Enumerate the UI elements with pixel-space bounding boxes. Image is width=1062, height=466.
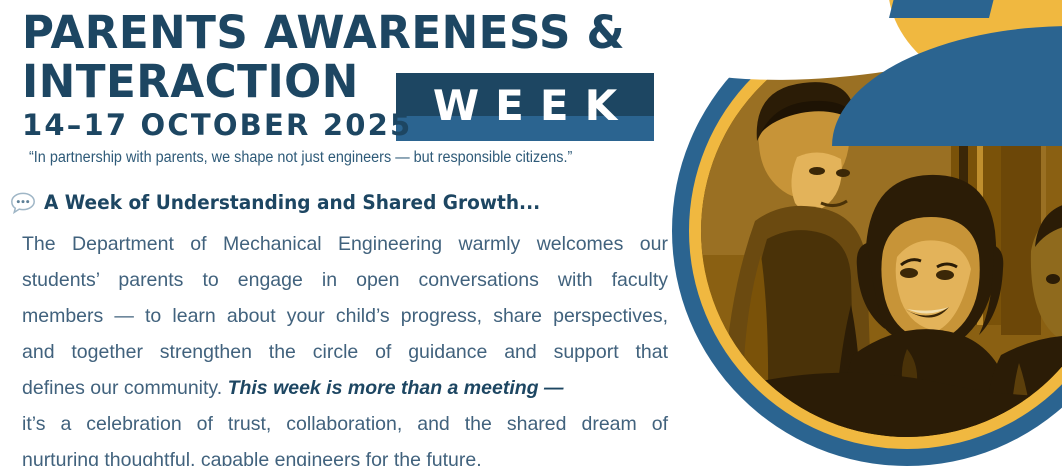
body-line-7: nurturing thoughtful, capable engineers … — [22, 442, 668, 466]
week-badge: WEEK — [396, 73, 654, 141]
poster-body-copy: The Department of Mechanical Engineering… — [22, 226, 668, 466]
parents-awareness-week-poster: PARENTS AWARENESS & INTERACTION WEEK 14–… — [0, 0, 1062, 466]
section-heading-row: A Week of Understanding and Shared Growt… — [10, 192, 566, 214]
body-line-5: defines our community. This week is more… — [22, 370, 668, 406]
speech-bubble-icon — [10, 192, 36, 214]
body-line-5-emphasis: This week is more than a meeting — — [228, 377, 564, 399]
section-heading-label: A Week of Understanding and Shared Growt… — [44, 192, 540, 214]
poster-title-line-1: PARENTS AWARENESS & — [22, 8, 662, 58]
blue-top-tab-shape — [889, 0, 1001, 18]
body-line-6: it’s a celebration of trust, collaborati… — [22, 406, 668, 442]
poster-photo-graphic — [655, 0, 1062, 466]
body-line-2: students’ parents to engage in open conv… — [22, 262, 668, 298]
body-line-5-prefix: defines our community. — [22, 377, 228, 399]
body-line-1: The Department of Mechanical Engineering… — [22, 226, 668, 262]
body-line-3: members — to learn about your child’s pr… — [22, 298, 668, 334]
poster-tagline: “In partnership with parents, we shape n… — [29, 148, 572, 167]
week-badge-label: WEEK — [417, 85, 633, 127]
body-line-4: and together strengthen the circle of gu… — [22, 334, 668, 370]
event-dates: 14–17 OCTOBER 2025 — [22, 108, 412, 142]
poster-text-column: PARENTS AWARENESS & INTERACTION WEEK 14–… — [0, 0, 690, 466]
